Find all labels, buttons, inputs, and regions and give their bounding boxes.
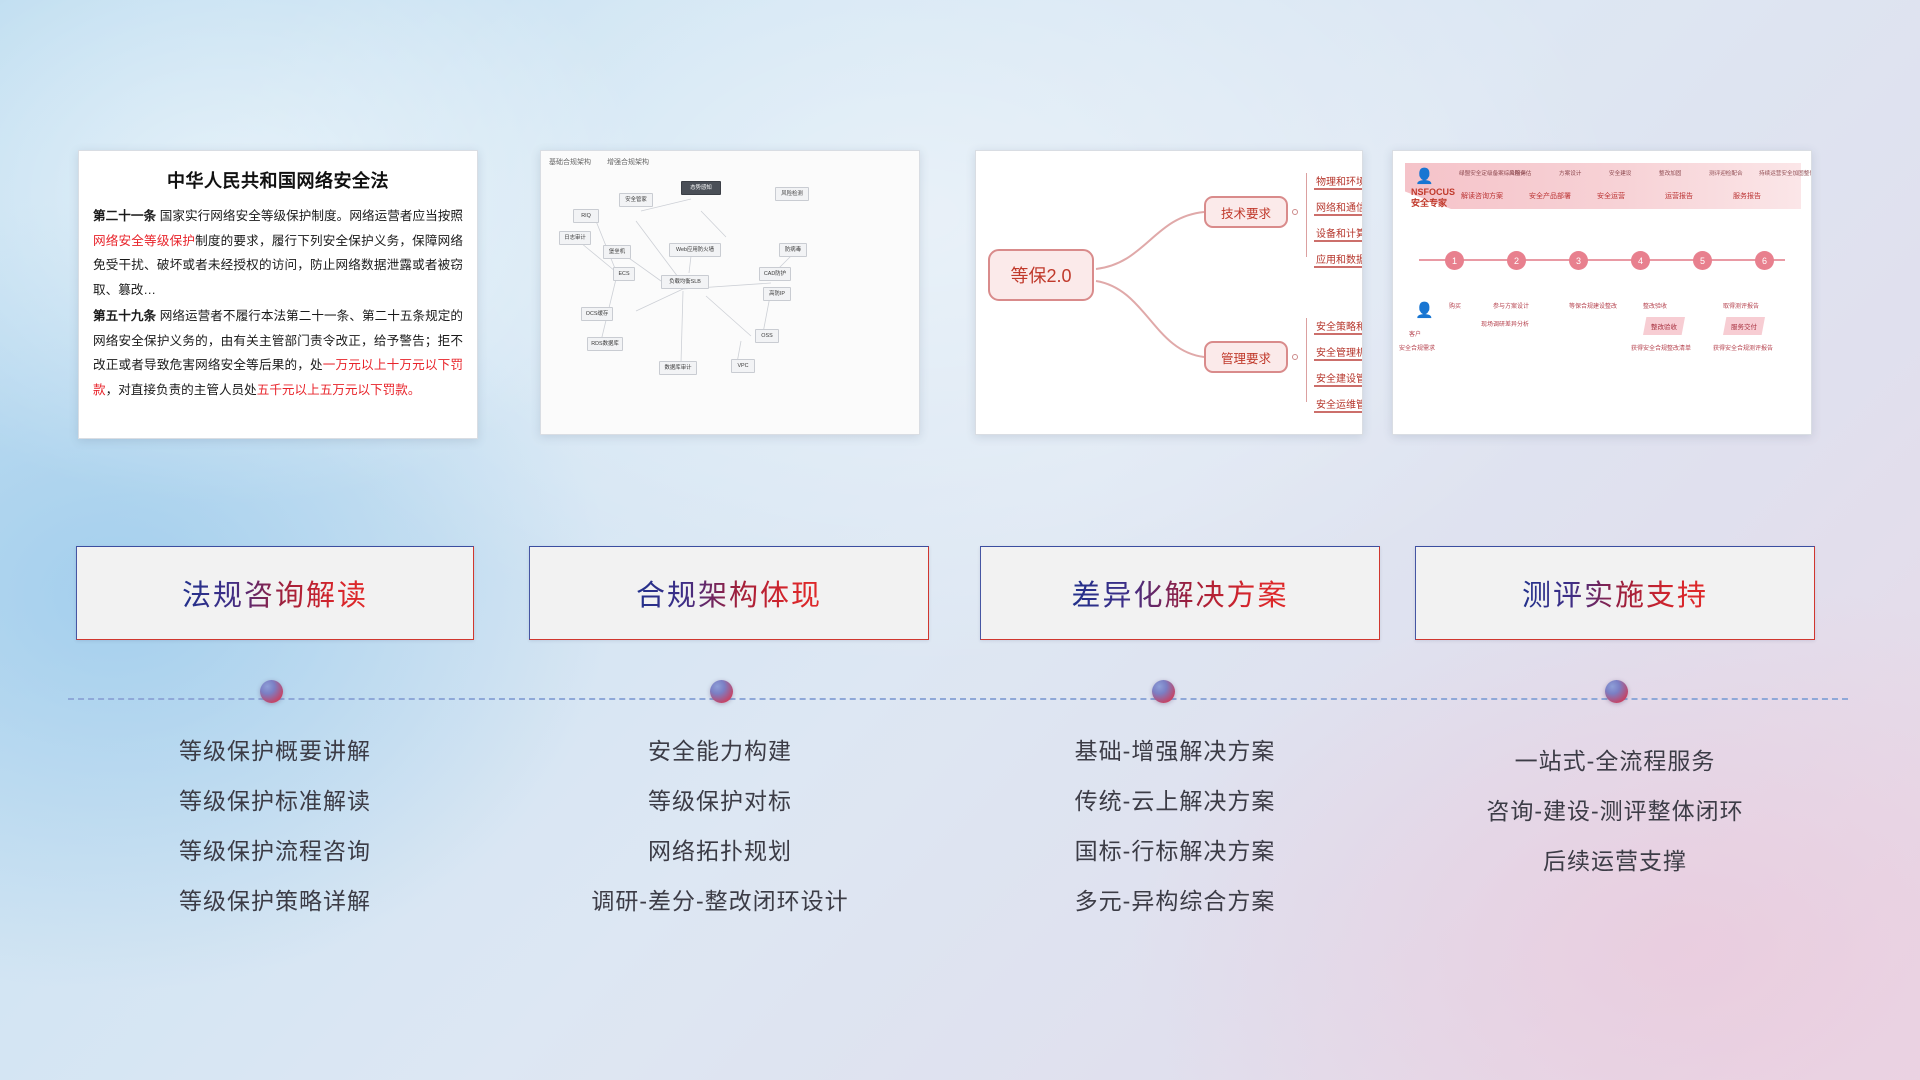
list-item: 调研-差分-整改闭环设计: [520, 890, 920, 913]
service-flow-step[interactable]: 4: [1631, 251, 1650, 270]
architecture-node: 负载均衡SLB: [661, 275, 709, 289]
service-flow-step[interactable]: 5: [1693, 251, 1712, 270]
mindmap-leaf-underline: [1314, 214, 1363, 216]
mindmap-leaf-underline: [1314, 240, 1363, 242]
list-item: 后续运营支撑: [1405, 850, 1825, 873]
mindmap-leaf: 设备和计算安全: [1316, 225, 1363, 240]
architecture-node: ECS: [613, 267, 635, 281]
detail-list-column-4: 一站式-全流程服务咨询-建设-测评整体闭环后续运营支撑: [1405, 750, 1825, 900]
customer-person-icon: 👤: [1415, 301, 1434, 319]
mindmap-root-node: 等保2.0: [988, 249, 1094, 301]
category-label-assessment-support[interactable]: 测评实施支持: [1415, 546, 1815, 640]
list-item: 等级保护流程咨询: [80, 840, 470, 863]
architecture-node: 数据库审计: [659, 361, 697, 375]
mindmap-leaf-underline: [1314, 411, 1363, 413]
service-flow-subtitle: 解读咨询方案: [1461, 191, 1503, 201]
category-label-text-3: 差异化解决方案: [1071, 572, 1288, 614]
mindmap-leaf: 网络和通信安全: [1316, 199, 1363, 214]
detail-lists-row: 等级保护概要讲解等级保护标准解读等级保护流程咨询等级保护策略详解 安全能力构建等…: [0, 740, 1920, 960]
list-item: 等级保护对标: [520, 790, 920, 813]
mindmap-leaf-underline: [1314, 333, 1363, 335]
list-item: 多元-异构综合方案: [965, 890, 1385, 913]
mindmap: 等保2.0 技术要求 管理要求 物理和环境安全网络和通信安全设备和计算安全应用和…: [976, 151, 1362, 434]
mindmap-leaf-underline: [1314, 266, 1363, 268]
list-item: 基础-增强解决方案: [965, 740, 1385, 763]
service-flow-subtitle: 运营报告: [1665, 191, 1693, 201]
service-flow-step[interactable]: 3: [1569, 251, 1588, 270]
brand-label: NSFOCUS 安全专家: [1411, 187, 1455, 210]
detail-list-column-3: 基础-增强解决方案传统-云上解决方案国标-行标解决方案多元-异构综合方案: [965, 740, 1385, 940]
mindmap-leaf: 安全建设管理: [1316, 370, 1363, 385]
architecture-node: OCS缓存: [581, 307, 613, 321]
mindmap-leaf: 物理和环境安全: [1316, 173, 1363, 188]
timeline: [0, 690, 1920, 730]
law-article-59-text-b: ，对直接负责的主管人员处: [106, 383, 257, 397]
service-flow-chip: 参与方案设计: [1493, 301, 1529, 310]
list-item: 等级保护概要讲解: [80, 740, 470, 763]
list-item: 国标-行标解决方案: [965, 840, 1385, 863]
detail-list-column-2: 安全能力构建等级保护对标网络拓扑规划调研-差分-整改闭环设计: [520, 740, 920, 940]
service-flow-chip: 整改验收: [1643, 301, 1667, 310]
card-cybersecurity-law[interactable]: 中华人民共和国网络安全法 第二十一条 国家实行网络安全等级保护制度。网络运营者应…: [78, 150, 478, 439]
mindmap-leaf: 应用和数据安全: [1316, 251, 1363, 266]
architecture-node: 日志审计: [559, 231, 591, 245]
architecture-node: 态势感知: [681, 181, 721, 195]
card-mindmap-dengbao[interactable]: 等保2.0 技术要求 管理要求 物理和环境安全网络和通信安全设备和计算安全应用和…: [975, 150, 1363, 435]
service-flow-header: 安全建设: [1609, 169, 1631, 177]
mindmap-branch-management: 管理要求: [1204, 341, 1288, 373]
list-item: 咨询-建设-测评整体闭环: [1405, 800, 1825, 823]
flow-tag-0: 整改验收: [1643, 317, 1685, 335]
service-flow-header: 风险评估: [1509, 169, 1531, 177]
service-flow-header: 持续运营安全加固整体合规体系: [1759, 169, 1812, 177]
category-label-text-2: 合规架构体现: [636, 572, 822, 614]
service-flow-step[interactable]: 6: [1755, 251, 1774, 270]
law-article-21: 第二十一条 国家实行网络安全等级保护制度。网络运营者应当按照网络安全等级保护制度…: [93, 204, 463, 302]
law-article-21-text-a: 国家实行网络安全等级保护制度。网络运营者应当按照: [156, 209, 463, 223]
law-article-21-number: 第二十一条: [93, 209, 156, 223]
service-flow-header: 方案设计: [1559, 169, 1581, 177]
mindmap-rail-technical: [1306, 173, 1307, 257]
card-compliance-architecture[interactable]: 基础合规架构 增强合规架构 安全管家态势感知风险检测RIQ日志审计堡垒机Web应…: [540, 150, 920, 435]
law-article-21-highlight: 网络安全等级保护: [93, 234, 195, 248]
architecture-connectors-svg: [541, 151, 920, 435]
mindmap-leaf-underline: [1314, 359, 1363, 361]
preview-cards-row: 中华人民共和国网络安全法 第二十一条 国家实行网络安全等级保护制度。网络运营者应…: [0, 150, 1920, 450]
mindmap-leaf: 安全管理机构和人员: [1316, 344, 1363, 359]
law-card-body: 第二十一条 国家实行网络安全等级保护制度。网络运营者应当按照网络安全等级保护制度…: [79, 204, 477, 402]
brand-subtitle: 安全专家: [1411, 198, 1455, 209]
service-flow-rail: [1419, 259, 1785, 261]
service-flow-chip: 现场调研差异分析: [1481, 319, 1529, 328]
list-item: 传统-云上解决方案: [965, 790, 1385, 813]
category-label-compliance-architecture[interactable]: 合规架构体现: [529, 546, 929, 640]
mindmap-branch-technical: 技术要求: [1204, 196, 1288, 228]
service-flow-chip: 取得测评报告: [1723, 301, 1759, 310]
service-flow-step[interactable]: 2: [1507, 251, 1526, 270]
law-article-59-number: 第五十九条: [93, 309, 156, 323]
architecture-node: Web应用防火墙: [669, 243, 721, 257]
architecture-node: 安全管家: [619, 193, 653, 207]
service-flow-subtitle: 服务报告: [1733, 191, 1761, 201]
left-label-1: 安全合规需求: [1399, 343, 1435, 352]
timeline-dot-3[interactable]: [1152, 680, 1175, 703]
architecture-node: CAD防护: [759, 267, 791, 281]
service-flow-chip: 等保合规建设整改: [1569, 301, 1617, 310]
architecture-node: 风险检测: [775, 187, 809, 201]
brand-name: NSFOCUS: [1411, 187, 1455, 198]
service-flow-subtitle: 安全产品部署: [1529, 191, 1571, 201]
flow-tag-sub-1: 获得安全合规测评报告: [1713, 343, 1773, 352]
service-flow-subtitle: 安全运营: [1597, 191, 1625, 201]
architecture-node: 高防IP: [763, 287, 791, 301]
service-flow-diagram: 👤 NSFOCUS 安全专家 绿盟安全定级备案综合服务风险评估方案设计安全建设整…: [1393, 151, 1811, 434]
service-flow-header: 整改加固: [1659, 169, 1681, 177]
mindmap-leaf-underline: [1314, 385, 1363, 387]
flow-tag-1: 服务交付: [1723, 317, 1765, 335]
mindmap-leaf: 安全策略和管理制度: [1316, 318, 1363, 333]
timeline-dot-1[interactable]: [260, 680, 283, 703]
expert-person-icon: 👤: [1415, 167, 1434, 185]
architecture-diagram: 基础合规架构 增强合规架构 安全管家态势感知风险检测RIQ日志审计堡垒机Web应…: [541, 151, 919, 434]
category-label-regulation-consulting[interactable]: 法规咨询解读: [76, 546, 474, 640]
timeline-dashed-line: [68, 698, 1848, 700]
category-label-text-4: 测评实施支持: [1522, 572, 1708, 614]
mindmap-leaf-underline: [1314, 188, 1363, 190]
card-service-flow[interactable]: 👤 NSFOCUS 安全专家 绿盟安全定级备案综合服务风险评估方案设计安全建设整…: [1392, 150, 1812, 435]
architecture-node: RDS数据库: [587, 337, 623, 351]
flow-tag-sub-0: 获得安全合规整改清单: [1631, 343, 1691, 352]
list-item: 等级保护标准解读: [80, 790, 470, 813]
timeline-dot-4[interactable]: [1605, 680, 1628, 703]
mindmap-collapse-dot-technical[interactable]: [1292, 209, 1298, 215]
service-flow-step[interactable]: 1: [1445, 251, 1464, 270]
architecture-node: OSS: [755, 329, 779, 343]
category-label-differentiated-solution[interactable]: 差异化解决方案: [980, 546, 1380, 640]
architecture-node: VPC: [731, 359, 755, 373]
architecture-node: 堡垒机: [603, 245, 631, 259]
list-item: 一站式-全流程服务: [1405, 750, 1825, 773]
category-label-row: 法规咨询解读 合规架构体现 差异化解决方案 测评实施支持: [0, 546, 1920, 646]
service-flow-chip: 购买: [1449, 301, 1461, 310]
law-card-title: 中华人民共和国网络安全法: [79, 167, 477, 193]
left-label-0: 客户: [1409, 329, 1421, 338]
mindmap-collapse-dot-management[interactable]: [1292, 354, 1298, 360]
list-item: 等级保护策略详解: [80, 890, 470, 913]
detail-list-column-1: 等级保护概要讲解等级保护标准解读等级保护流程咨询等级保护策略详解: [80, 740, 470, 940]
architecture-node: RIQ: [573, 209, 599, 223]
service-flow-header: 测评迎检配合: [1709, 169, 1743, 177]
list-item: 安全能力构建: [520, 740, 920, 763]
mindmap-leaf: 安全运维管理: [1316, 396, 1363, 411]
timeline-dot-2[interactable]: [710, 680, 733, 703]
list-item: 网络拓扑规划: [520, 840, 920, 863]
mindmap-rail-management: [1306, 318, 1307, 402]
law-article-59-highlight-b: 五千元以上五万元以下罚款。: [257, 383, 421, 397]
category-label-text-1: 法规咨询解读: [182, 572, 368, 614]
architecture-node: 防病毒: [779, 243, 807, 257]
law-article-59: 第五十九条 网络运营者不履行本法第二十一条、第二十五条规定的网络安全保护义务的，…: [93, 304, 463, 402]
